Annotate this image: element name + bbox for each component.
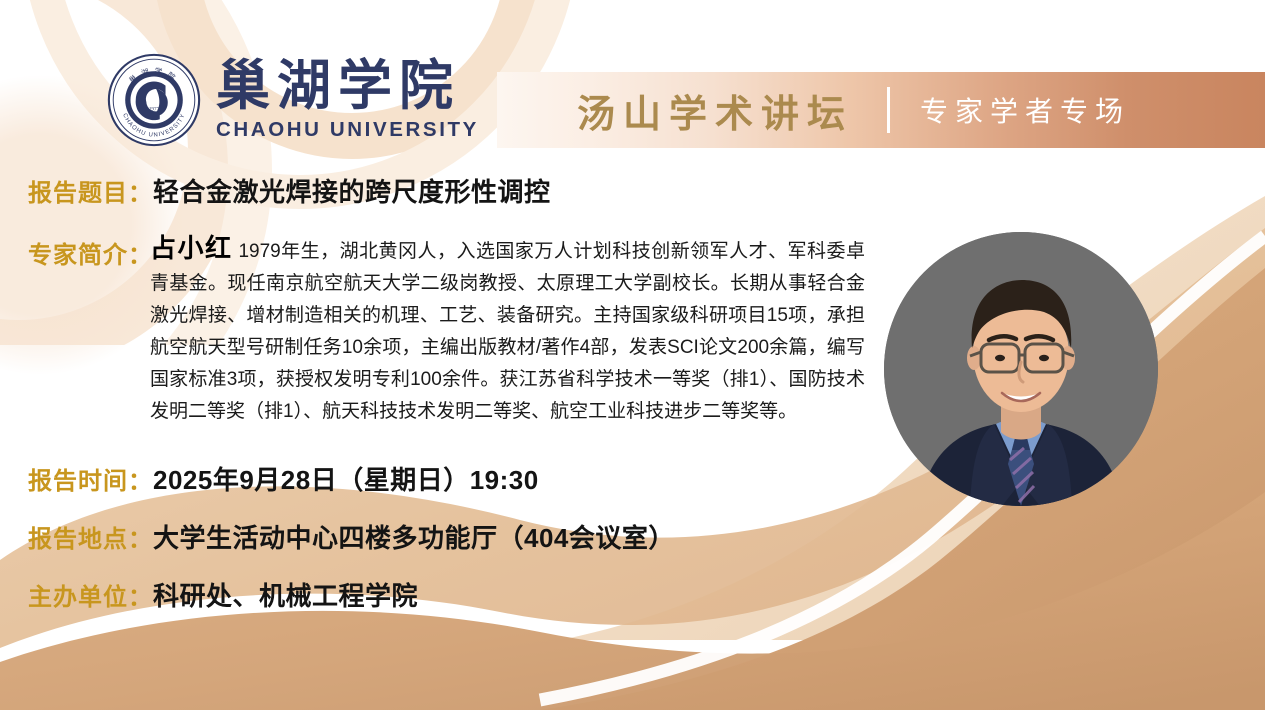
report-organizer-label: 主办单位： xyxy=(28,577,153,612)
university-name-en: CHAOHU UNIVERSITY xyxy=(216,120,479,141)
forum-banner: 汤山学术讲坛 专家学者专场 xyxy=(497,72,1265,148)
university-seal-icon: 1977 CHAOHU UNIVERSITY 巢湖学院 xyxy=(106,52,202,148)
report-title-row: 报告题目： 轻合金激光焊接的跨尺度形性调控 xyxy=(28,172,551,209)
report-time-value: 2025年9月28日（星期日）19:30 xyxy=(153,460,539,497)
speaker-bio-label: 专家简介： xyxy=(28,235,153,270)
university-name-block: 巢湖学院 CHAOHU UNIVERSITY xyxy=(216,59,479,141)
university-name-cn: 巢湖学院 xyxy=(216,59,479,113)
report-title-value: 轻合金激光焊接的跨尺度形性调控 xyxy=(153,172,551,209)
forum-subtitle: 专家学者专场 xyxy=(920,90,1130,130)
poster-root: 1977 CHAOHU UNIVERSITY 巢湖学院 巢湖学院 CHAOHU … xyxy=(0,0,1265,710)
speaker-bio-row: 专家简介： 占小红1979年生，湖北黄冈人，入选国家万人计划科技创新领军人才、军… xyxy=(28,232,878,428)
poster-header: 1977 CHAOHU UNIVERSITY 巢湖学院 巢湖学院 CHAOHU … xyxy=(0,0,1265,160)
speaker-name: 占小红 xyxy=(150,233,232,263)
report-time-row: 报告时间： 2025年9月28日（星期日）19:30 xyxy=(28,460,539,497)
forum-title: 汤山学术讲坛 xyxy=(577,83,853,138)
speaker-bio-text-block: 占小红1979年生，湖北黄冈人，入选国家万人计划科技创新领军人才、军科委卓青基金… xyxy=(150,232,865,428)
report-organizer-row: 主办单位： 科研处、机械工程学院 xyxy=(28,576,418,613)
report-organizer-value: 科研处、机械工程学院 xyxy=(153,576,418,613)
banner-divider xyxy=(887,87,890,133)
speaker-portrait xyxy=(884,232,1158,506)
report-title-label: 报告题目： xyxy=(28,173,153,208)
report-place-label: 报告地点： xyxy=(28,519,153,554)
report-time-label: 报告时间： xyxy=(28,461,153,496)
university-logo: 1977 CHAOHU UNIVERSITY 巢湖学院 巢湖学院 CHAOHU … xyxy=(106,52,479,148)
report-place-value: 大学生活动中心四楼多功能厅（404会议室） xyxy=(153,518,675,555)
speaker-bio-text: 1979年生，湖北黄冈人，入选国家万人计划科技创新领军人才、军科委卓青基金。现任… xyxy=(150,241,865,422)
svg-text:1977: 1977 xyxy=(149,107,160,113)
report-place-row: 报告地点： 大学生活动中心四楼多功能厅（404会议室） xyxy=(28,518,675,555)
